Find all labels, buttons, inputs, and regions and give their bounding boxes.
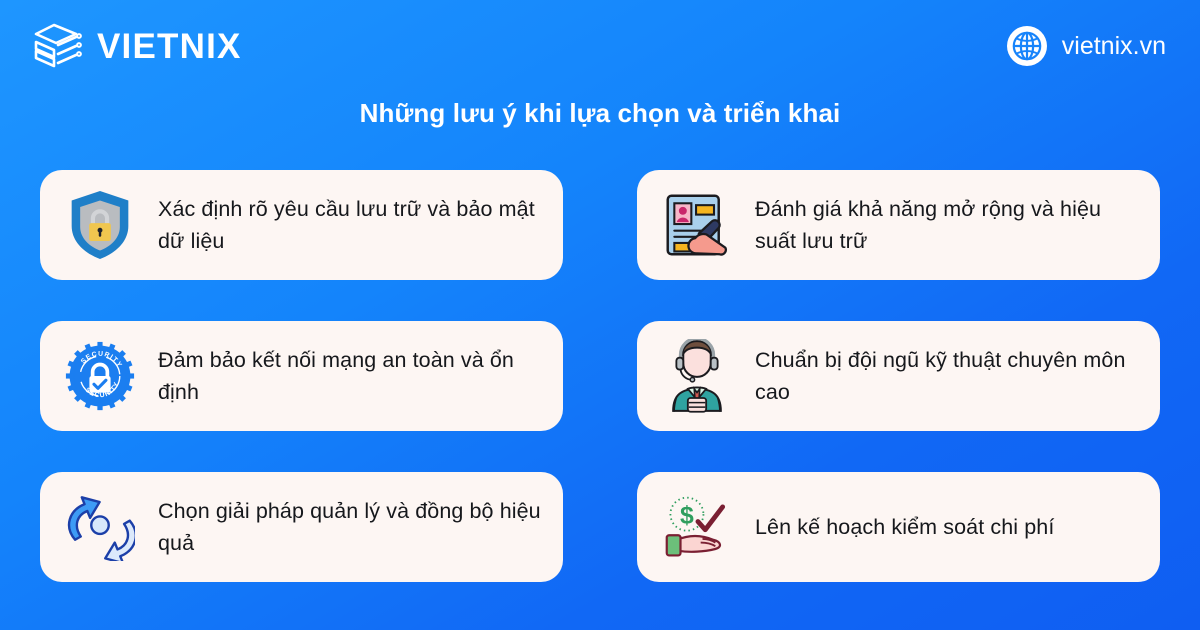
page-title: Những lưu ý khi lựa chọn và triển khai <box>0 98 1200 129</box>
support-agent-icon <box>661 337 733 415</box>
infographic-poster: VIETNIX vietnix.vn Những lưu ý khi lựa c… <box>0 0 1200 630</box>
site-url-group[interactable]: vietnix.vn <box>1006 25 1166 67</box>
security-badge-icon: SECURITY SECURITY <box>64 337 136 415</box>
card-label: Xác định rõ yêu cầu lưu trữ và bảo mật d… <box>158 193 543 258</box>
resume-review-icon <box>661 186 733 264</box>
card-technical-team[interactable]: Chuẩn bị đội ngũ kỹ thuật chuyên môn cao <box>637 321 1160 431</box>
card-management-sync[interactable]: Chọn giải pháp quản lý và đồng bộ hiệu q… <box>40 472 563 582</box>
card-label: Chọn giải pháp quản lý và đồng bộ hiệu q… <box>158 495 543 560</box>
card-label: Đánh giá khả năng mở rộng và hiệu suất l… <box>755 193 1140 258</box>
card-scalability-performance[interactable]: Đánh giá khả năng mở rộng và hiệu suất l… <box>637 170 1160 280</box>
card-label: Chuẩn bị đội ngũ kỹ thuật chuyên môn cao <box>755 344 1140 409</box>
card-label: Đảm bảo kết nối mạng an toàn và ổn định <box>158 344 543 409</box>
svg-text:$: $ <box>680 502 694 529</box>
poster-header: VIETNIX vietnix.vn <box>0 0 1200 92</box>
site-url-label: vietnix.vn <box>1062 34 1166 59</box>
card-cost-control[interactable]: $ Lên kế hoạch kiểm soát chi phí <box>637 472 1160 582</box>
stacked-layers-logo-icon <box>32 21 84 71</box>
card-network-security[interactable]: SECURITY SECURITY Đảm bảo kết nối mạng a… <box>40 321 563 431</box>
card-storage-security[interactable]: Xác định rõ yêu cầu lưu trữ và bảo mật d… <box>40 170 563 280</box>
cards-grid: Xác định rõ yêu cầu lưu trữ và bảo mật d… <box>40 170 1160 582</box>
card-label: Lên kế hoạch kiểm soát chi phí <box>755 511 1054 543</box>
shield-lock-icon <box>64 186 136 264</box>
globe-icon <box>1006 25 1048 67</box>
brand-name: VIETNIX <box>97 29 242 64</box>
cost-control-hand-icon: $ <box>661 488 733 566</box>
sync-arrows-icon <box>64 488 136 566</box>
brand-logo: VIETNIX <box>32 21 242 71</box>
